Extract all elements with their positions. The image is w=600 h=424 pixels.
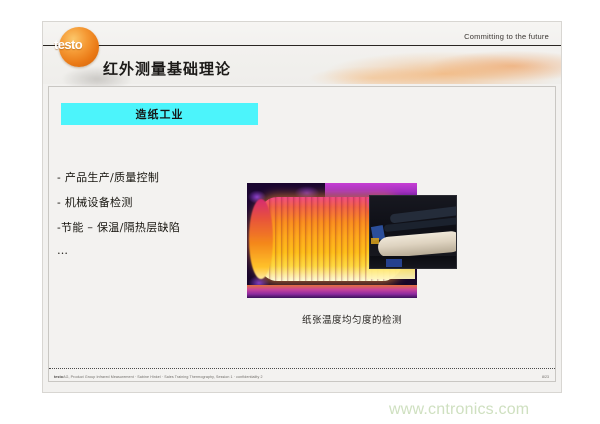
footer-credit-text: AG, Product Group Infrared Measurement ·… — [63, 375, 263, 379]
footer-brand: testo — [54, 375, 63, 379]
header-divider-rule — [43, 45, 561, 46]
bullet-continuation: … — [57, 240, 257, 262]
footer-credit: testoAG, Product Group Infrared Measurem… — [54, 375, 263, 379]
bullet-list: - 产品生产/质量控制 - 机械设备检测 -节能 – 保温/隔热层缺陷 … — [57, 165, 257, 262]
slide-content-frame: 造纸工业 - 产品生产/质量控制 - 机械设备检测 -节能 – 保温/隔热层缺陷… — [48, 86, 556, 382]
photo-paper-roll — [377, 230, 457, 258]
footer-page-number: 8/23 — [542, 375, 549, 379]
thermal-bottom-fringe — [247, 285, 417, 298]
section-title-box: 造纸工业 — [61, 103, 258, 125]
footer-divider-rule — [49, 368, 555, 369]
photo-inset — [369, 195, 457, 269]
bullet-item: - 产品生产/质量控制 — [57, 165, 257, 190]
thermal-drum-left-cap — [249, 199, 273, 279]
testo-logo-wordmark: testo — [54, 37, 82, 52]
slide-title: 红外测量基础理论 — [103, 58, 231, 79]
bullet-item: - 机械设备检测 — [57, 190, 257, 215]
figure-caption: 纸张温度均匀度的检测 — [247, 312, 457, 326]
photo-bottom-shadow — [370, 256, 456, 268]
site-watermark: www.cntronics.com — [389, 401, 529, 419]
presentation-slide: Committing to the future testo 红外测量基础理论 … — [43, 22, 561, 392]
bullet-item: -节能 – 保温/隔热层缺陷 — [57, 215, 257, 240]
figure-thermal-image — [247, 183, 457, 298]
section-title-label: 造纸工业 — [136, 106, 184, 122]
photo-bottom-blue-detail — [386, 259, 402, 267]
company-tagline: Committing to the future — [464, 32, 549, 41]
screenshot-canvas: Committing to the future testo 红外测量基础理论 … — [0, 0, 600, 424]
